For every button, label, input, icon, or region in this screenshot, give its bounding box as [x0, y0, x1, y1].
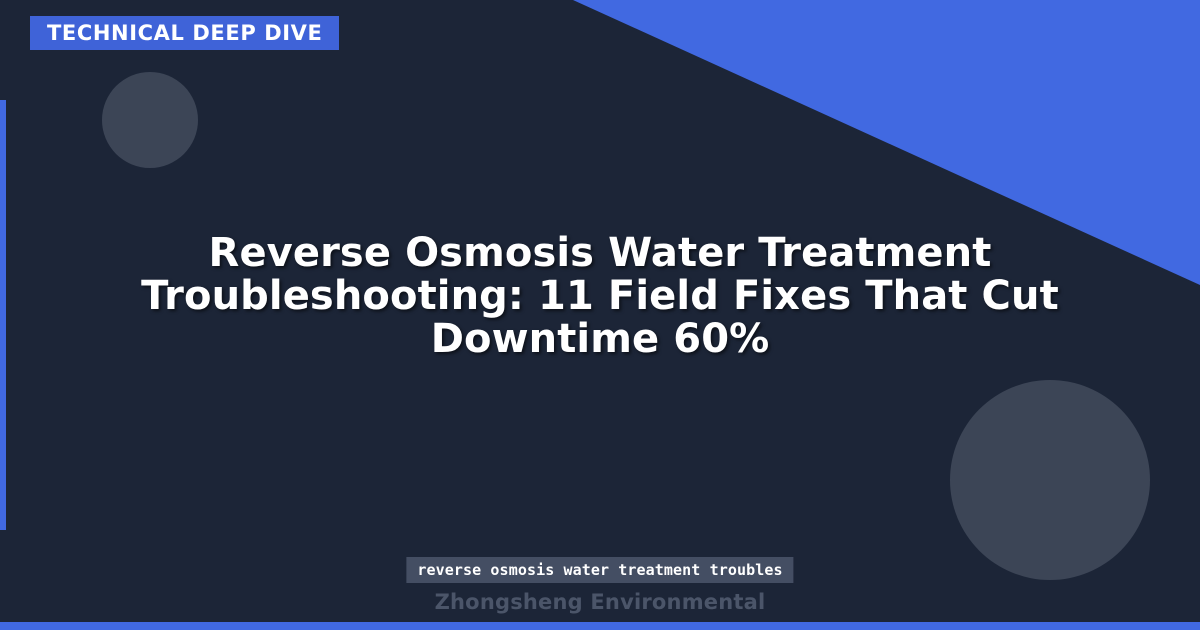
- decorative-circle-bottom-right: [950, 380, 1150, 580]
- social-card: TECHNICAL DEEP DIVE Reverse Osmosis Wate…: [0, 0, 1200, 630]
- decorative-circle-top-left: [102, 72, 198, 168]
- brand-name: Zhongsheng Environmental: [0, 590, 1200, 614]
- category-badge-label: TECHNICAL DEEP DIVE: [47, 21, 322, 45]
- category-badge: TECHNICAL DEEP DIVE: [30, 16, 339, 50]
- bottom-accent-bar: [0, 622, 1200, 630]
- keyword-chip: reverse osmosis water treatment troubles: [406, 557, 793, 583]
- left-accent-bar: [0, 100, 6, 530]
- keyword-chip-label: reverse osmosis water treatment troubles: [417, 561, 782, 579]
- page-title: Reverse Osmosis Water Treatment Troubles…: [50, 232, 1150, 361]
